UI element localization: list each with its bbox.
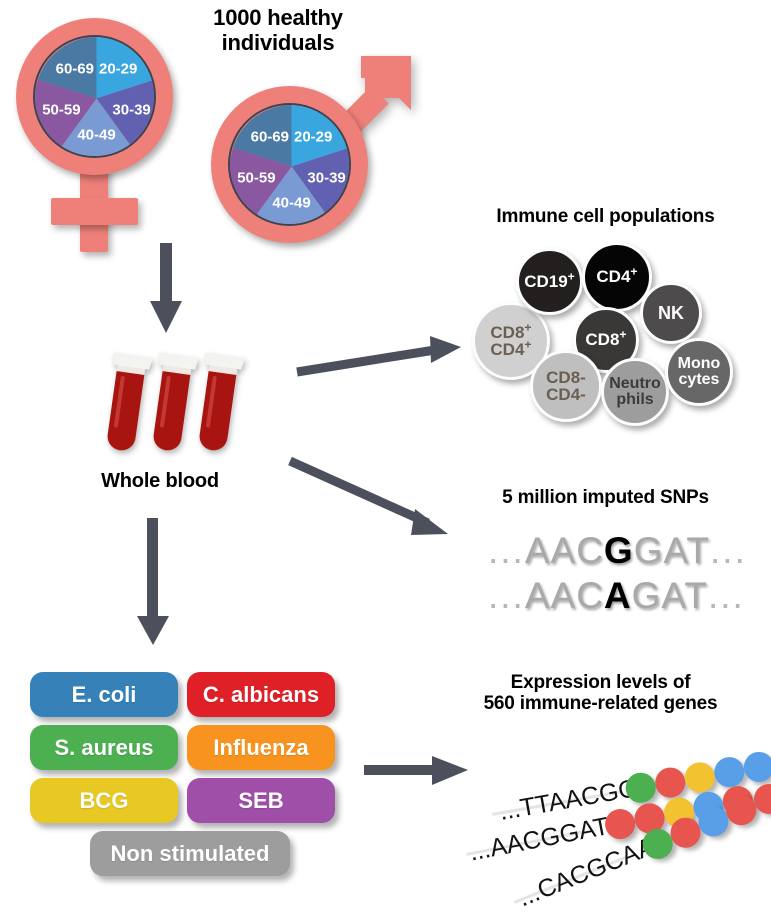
age-label-20-29: 20-29 (99, 60, 137, 77)
stimulus-bcg-label: BCG (80, 788, 129, 814)
snp-row1-variant: G (604, 530, 634, 571)
stimulus-influenza-label: Influenza (213, 735, 308, 761)
age-label-50-59: 50-59 (237, 169, 275, 186)
snp-row1-prefix: AAC (525, 530, 604, 571)
snp-row1-leading-ellipsis: ... (488, 530, 525, 571)
stimulus-c-albicans-label: C. albicans (203, 682, 319, 708)
superscript-plus: + (568, 269, 575, 283)
age-label-20-29: 20-29 (294, 128, 332, 145)
female-symbol-cross (51, 198, 138, 225)
superscript-plus: + (524, 337, 531, 351)
age-label-40-49: 40-49 (77, 127, 115, 144)
stimulus-influenza[interactable]: Influenza (187, 725, 335, 770)
cell-cd8neg-cd4neg-line2: CD4- (546, 385, 586, 404)
cell-nk: NK (640, 282, 702, 344)
stimulus-s-aureus[interactable]: S. aureus (30, 725, 178, 770)
expression-title-line1: Expression levels of (430, 672, 771, 693)
whole-blood-label: Whole blood (60, 470, 260, 492)
stimulus-e-coli[interactable]: E. coli (30, 672, 178, 717)
cell-cd4pos-label: CD4 (596, 267, 630, 286)
superscript-plus: + (524, 320, 531, 334)
cell-neutrophils-line1: Neutro (609, 375, 661, 392)
whole-blood-tubes (100, 340, 260, 460)
cell-nk-label: NK (658, 304, 684, 323)
snp-section-title: 5 million imputed SNPs (440, 487, 771, 508)
cell-cd8pos-cd4pos-line1: CD8 (490, 323, 524, 342)
age-label-60-69: 60-69 (251, 128, 289, 145)
snp-row1-trailing-ellipsis: ... (710, 530, 747, 571)
arrow-blood-to-stimuli (135, 518, 171, 648)
blood-tube-3 (176, 341, 264, 470)
diagram-canvas: 1000 healthy individuals 20-2930-3940-49… (0, 0, 771, 922)
arrow-cohort-to-blood (148, 243, 184, 335)
immune-cell-cluster: CD8+ CD4+ CD19+ CD4+ CD8+ NK CD8- C (460, 240, 771, 430)
cell-cd19pos-label: CD19 (524, 272, 567, 291)
snp-row2-prefix: AAC (525, 575, 604, 616)
cell-monocytes-line2: cytes (679, 371, 720, 388)
arrow-blood-to-immune (295, 330, 470, 385)
superscript-plus: + (619, 328, 626, 342)
age-label-40-49: 40-49 (272, 195, 310, 212)
stimulus-e-coli-label: E. coli (72, 682, 137, 708)
snp-sequence-row-2: ...AACAGAT... (488, 575, 745, 617)
cell-cd19pos: CD19+ (516, 248, 583, 315)
age-label-60-69: 60-69 (56, 60, 94, 77)
stimulus-bcg[interactable]: BCG (30, 778, 178, 823)
bead-blue (742, 750, 771, 785)
cell-cd8pos-label: CD8 (585, 330, 619, 349)
snp-row1-suffix: GAT (634, 530, 710, 571)
female-age-pie-chart: 20-2930-3940-4950-5960-69 (33, 35, 156, 158)
stimulus-s-aureus-label: S. aureus (54, 735, 153, 761)
snp-row2-suffix: GAT (632, 575, 708, 616)
stimulus-non-stimulated[interactable]: Non stimulated (90, 831, 290, 876)
stimulus-seb[interactable]: SEB (187, 778, 335, 823)
cell-cd8pos-cd4pos-line2: CD4 (490, 340, 524, 359)
superscript-plus: + (630, 265, 637, 279)
stimulus-non-stimulated-label: Non stimulated (111, 841, 270, 867)
cohort-title-line2: individuals (178, 31, 378, 56)
age-label-50-59: 50-59 (42, 101, 80, 118)
snp-row2-trailing-ellipsis: ... (708, 575, 745, 616)
age-label-30-39: 30-39 (307, 169, 345, 186)
cell-monocytes: Mono cytes (665, 338, 733, 406)
immune-section-title: Immune cell populations (440, 206, 771, 227)
snp-sequence-row-1: ...AACGGAT... (488, 530, 747, 572)
stimuli-panel: E. coli C. albicans S. aureus Influenza … (30, 672, 350, 902)
cell-neutrophils: Neutro phils (601, 358, 669, 426)
stimulus-seb-label: SEB (238, 788, 283, 814)
cell-monocytes-line1: Mono (678, 355, 721, 372)
snp-row2-leading-ellipsis: ... (488, 575, 525, 616)
male-gender-symbol: 20-2930-3940-4950-5960-69 (205, 60, 425, 260)
cell-cd8neg-cd4neg-line1: CD8- (546, 368, 586, 387)
page-title-cohort: 1000 healthy individuals (178, 6, 378, 55)
male-age-pie-chart: 20-2930-3940-4950-5960-69 (228, 103, 351, 226)
arrow-stimuli-to-expression (364, 752, 474, 792)
age-label-30-39: 30-39 (112, 101, 150, 118)
expression-section-title: Expression levels of 560 immune-related … (430, 672, 771, 715)
cohort-title-line1: 1000 healthy (178, 6, 378, 31)
snp-row2-variant: A (604, 575, 632, 616)
expression-title-line2: 560 immune-related genes (430, 693, 771, 714)
stimulus-c-albicans[interactable]: C. albicans (187, 672, 335, 717)
female-gender-symbol: 20-2930-3940-4950-5960-69 (8, 10, 198, 250)
cell-cd8neg-cd4neg: CD8- CD4- (530, 350, 602, 422)
arrow-blood-to-snps (288, 455, 463, 550)
gene-strand-cluster: ...TTAACGG ...AACGGAT ...CACGCAA (478, 735, 771, 915)
cell-neutrophils-line2: phils (616, 391, 653, 408)
